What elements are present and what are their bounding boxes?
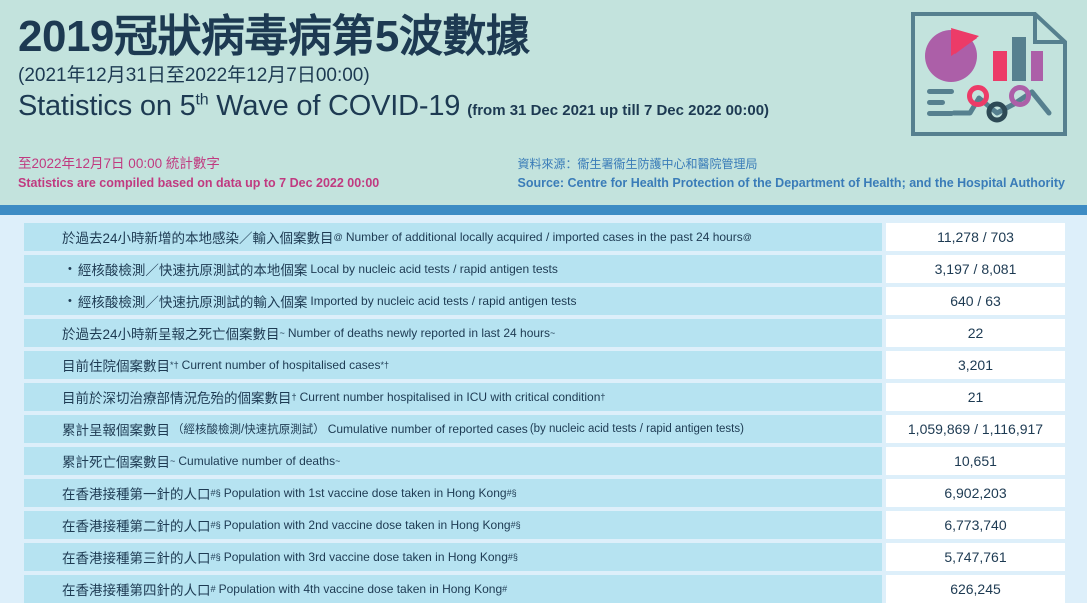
row-label-english-marker: # <box>502 584 507 594</box>
header-divider-bar <box>0 205 1087 215</box>
row-label-chinese-marker: # <box>211 584 216 594</box>
table-row: 目前於深切治療部情況危殆的個案數目† Current number hospit… <box>24 383 1065 411</box>
row-label-chinese-paren: （經核酸檢測/快速抗原測試） <box>172 421 325 437</box>
row-label-english: Number of additional locally acquired / … <box>346 230 743 244</box>
table-row: •經核酸檢測／快速抗原測試的本地個案 Local by nucleic acid… <box>24 255 1065 283</box>
statistics-date-note-english: Statistics are compiled based on data up… <box>18 174 379 193</box>
row-label-chinese-marker: † <box>292 392 297 402</box>
row-value: 22 <box>886 319 1065 347</box>
row-label: 累計呈報個案數目 （經核酸檢測/快速抗原測試） Cumulative numbe… <box>24 415 882 443</box>
row-label-chinese-marker: #§ <box>211 488 221 498</box>
row-label-english-marker: ~ <box>550 328 555 338</box>
row-label-chinese-marker: #§ <box>211 520 221 530</box>
row-label-chinese: 目前住院個案數目 <box>62 355 170 375</box>
row-label-chinese-marker: *† <box>170 360 179 370</box>
row-label: •經核酸檢測／快速抗原測試的本地個案 Local by nucleic acid… <box>24 255 882 283</box>
table-row: 目前住院個案數目*† Current number of hospitalise… <box>24 351 1065 379</box>
row-label: 在香港接種第二針的人口#§ Population with 2nd vaccin… <box>24 511 882 539</box>
row-label-english: Cumulative number of deaths <box>178 454 335 468</box>
row-label-english-marker: #§ <box>508 552 518 562</box>
row-label-english-paren: (by nucleic acid tests / rapid antigen t… <box>530 423 744 435</box>
row-label: 於過去24小時新增的本地感染／輸入個案數目@ Number of additio… <box>24 223 882 251</box>
statistics-document-icon-svg <box>907 8 1071 140</box>
row-value: 21 <box>886 383 1065 411</box>
table-row: 在香港接種第四針的人口# Population with 4th vaccine… <box>24 575 1065 603</box>
row-label-english-marker: @ <box>743 232 752 242</box>
row-value: 11,278 / 703 <box>886 223 1065 251</box>
header-footnote-area: 至2022年12月7日 00:00 統計數字 Statistics are co… <box>18 154 1071 193</box>
bullet-dot-icon: • <box>68 295 72 307</box>
table-row: 累計呈報個案數目 （經核酸檢測/快速抗原測試） Cumulative numbe… <box>24 415 1065 443</box>
bullet-dot-icon: • <box>68 263 72 275</box>
row-label-english-marker: † <box>600 392 605 402</box>
row-label-english: Population with 2nd vaccine dose taken i… <box>224 518 511 532</box>
statistics-table: 於過去24小時新增的本地感染／輸入個案數目@ Number of additio… <box>0 215 1087 603</box>
row-label-chinese: 經核酸檢測／快速抗原測試的輸入個案 <box>78 291 308 311</box>
row-label: 在香港接種第四針的人口# Population with 4th vaccine… <box>24 575 882 603</box>
row-label: 在香港接種第三針的人口#§ Population with 3rd vaccin… <box>24 543 882 571</box>
row-label: 目前於深切治療部情況危殆的個案數目† Current number hospit… <box>24 383 882 411</box>
statistics-document-icon <box>907 8 1071 140</box>
row-label: •經核酸檢測／快速抗原測試的輸入個案 Imported by nucleic a… <box>24 287 882 315</box>
row-label-english-marker: #§ <box>507 488 517 498</box>
row-label-chinese: 於過去24小時新增的本地感染／輸入個案數目 <box>62 227 334 247</box>
row-label-english: Imported by nucleic acid tests / rapid a… <box>310 294 576 308</box>
table-row: 於過去24小時新增的本地感染／輸入個案數目@ Number of additio… <box>24 223 1065 251</box>
row-label-chinese: 於過去24小時新呈報之死亡個案數目 <box>62 323 280 343</box>
row-label-english: Population with 4th vaccine dose taken i… <box>219 582 503 596</box>
page-header: 2019冠狀病毒病第5波數據 (2021年12月31日至2022年12月7日00… <box>0 0 1087 205</box>
row-value: 10,651 <box>886 447 1065 475</box>
row-label: 在香港接種第一針的人口#§ Population with 1st vaccin… <box>24 479 882 507</box>
row-label-english: Local by nucleic acid tests / rapid anti… <box>310 262 557 276</box>
table-row: 在香港接種第一針的人口#§ Population with 1st vaccin… <box>24 479 1065 507</box>
row-label-chinese-marker: @ <box>334 232 343 242</box>
row-label-chinese: 在香港接種第一針的人口 <box>62 483 211 503</box>
row-value: 3,197 / 8,081 <box>886 255 1065 283</box>
row-label-english: Population with 3rd vaccine dose taken i… <box>224 550 508 564</box>
row-label: 累計死亡個案數目~ Cumulative number of deaths~ <box>24 447 882 475</box>
row-label-chinese: 在香港接種第二針的人口 <box>62 515 211 535</box>
row-label-chinese-marker: ~ <box>170 456 175 466</box>
row-label-chinese-marker: #§ <box>211 552 221 562</box>
row-label-english: Number of deaths newly reported in last … <box>288 326 550 340</box>
statistics-date-note-chinese: 至2022年12月7日 00:00 統計數字 <box>18 154 379 174</box>
row-label-chinese: 在香港接種第三針的人口 <box>62 547 211 567</box>
row-label-chinese: 目前於深切治療部情況危殆的個案數目 <box>62 387 292 407</box>
row-label-chinese-marker: ~ <box>280 328 285 338</box>
row-label-english-marker: *† <box>380 360 389 370</box>
page-title-english: Statistics on 5th Wave of COVID-19 <box>18 90 460 123</box>
row-label-english-marker: #§ <box>511 520 521 530</box>
table-row: 累計死亡個案數目~ Cumulative number of deaths~10… <box>24 447 1065 475</box>
statistics-date-note: 至2022年12月7日 00:00 統計數字 Statistics are co… <box>18 154 379 193</box>
row-value: 6,773,740 <box>886 511 1065 539</box>
row-label: 於過去24小時新呈報之死亡個案數目~ Number of deaths newl… <box>24 319 882 347</box>
table-row: 在香港接種第三針的人口#§ Population with 3rd vaccin… <box>24 543 1065 571</box>
row-value: 5,747,761 <box>886 543 1065 571</box>
row-label-english: Current number hospitalised in ICU with … <box>300 390 601 404</box>
row-label-english: Cumulative number of reported cases <box>328 422 528 436</box>
row-value: 1,059,869 / 1,116,917 <box>886 415 1065 443</box>
data-source-note-chinese: 資料來源：衞生署衞生防護中心和醫院管理局 <box>518 155 1066 174</box>
row-label-chinese: 經核酸檢測／快速抗原測試的本地個案 <box>78 259 308 279</box>
page-title-english-date: (from 31 Dec 2021 up till 7 Dec 2022 00:… <box>467 102 769 119</box>
row-value: 640 / 63 <box>886 287 1065 315</box>
data-source-note: 資料來源：衞生署衞生防護中心和醫院管理局 Source: Centre for … <box>518 155 1072 193</box>
ordinal-suffix: th <box>196 91 209 108</box>
row-value: 3,201 <box>886 351 1065 379</box>
row-value: 626,245 <box>886 575 1065 603</box>
row-label-english: Current number of hospitalised cases <box>182 358 381 372</box>
row-label-english: Population with 1st vaccine dose taken i… <box>224 486 507 500</box>
table-row: •經核酸檢測／快速抗原測試的輸入個案 Imported by nucleic a… <box>24 287 1065 315</box>
row-label-chinese: 累計呈報個案數目 <box>62 419 170 439</box>
row-label-chinese: 在香港接種第四針的人口 <box>62 579 211 599</box>
table-row: 於過去24小時新呈報之死亡個案數目~ Number of deaths newl… <box>24 319 1065 347</box>
row-label-chinese: 累計死亡個案數目 <box>62 451 170 471</box>
data-source-note-english: Source: Centre for Health Protection of … <box>518 174 1066 193</box>
table-row: 在香港接種第二針的人口#§ Population with 2nd vaccin… <box>24 511 1065 539</box>
row-label: 目前住院個案數目*† Current number of hospitalise… <box>24 351 882 379</box>
row-label-english-marker: ~ <box>335 456 340 466</box>
row-value: 6,902,203 <box>886 479 1065 507</box>
